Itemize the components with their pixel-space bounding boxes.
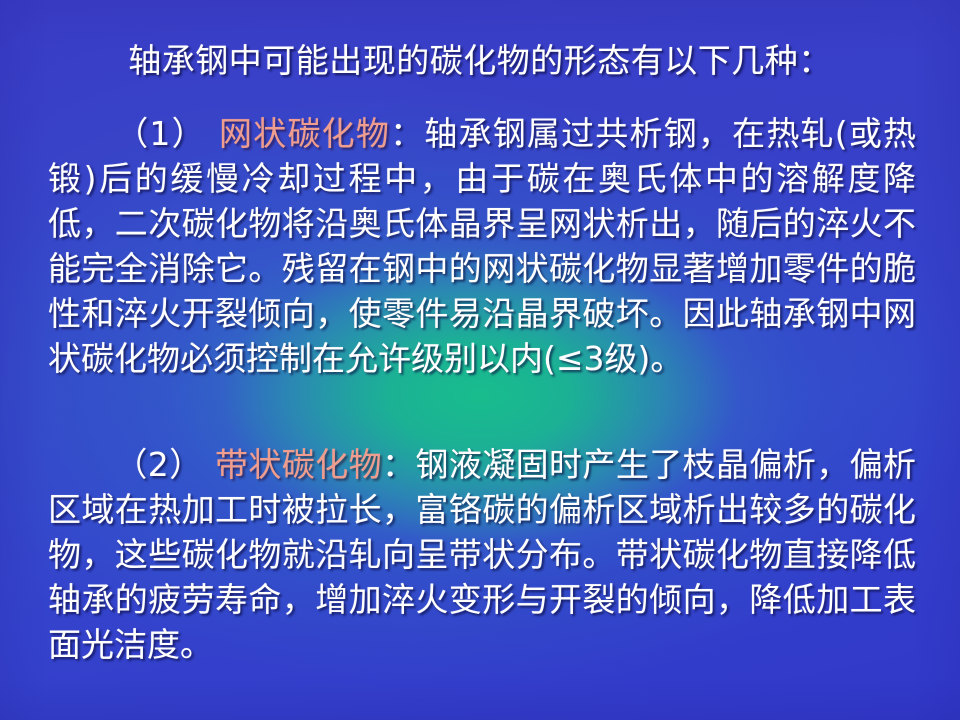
paragraph-2-term: 带状碳化物 [215,445,382,484]
paragraph-2: （2）带状碳化物：钢液凝固时产生了枝晶偏析，偏析区域在热加工时被拉长，富铬碳的偏… [48,442,916,667]
paragraph-1-colon: ： [390,114,424,153]
paragraph-2-marker: （2） [114,445,203,484]
slide-canvas: 轴承钢中可能出现的碳化物的形态有以下几种： （1）网状碳化物：轴承钢属过共析钢，… [0,0,960,720]
paragraph-1-body: 轴承钢属过共析钢，在热轧(或热锻)后的缓慢冷却过程中，由于碳在奥氏体中的溶解度降… [48,114,916,378]
paragraph-1-marker: （1） [114,114,206,153]
page-title: 轴承钢中可能出现的碳化物的形态有以下几种： [0,40,960,82]
paragraph-1-term: 网状碳化物 [218,114,390,153]
paragraph-2-colon: ： [382,445,415,484]
paragraph-1: （1）网状碳化物：轴承钢属过共析钢，在热轧(或热锻)后的缓慢冷却过程中，由于碳在… [48,111,916,381]
